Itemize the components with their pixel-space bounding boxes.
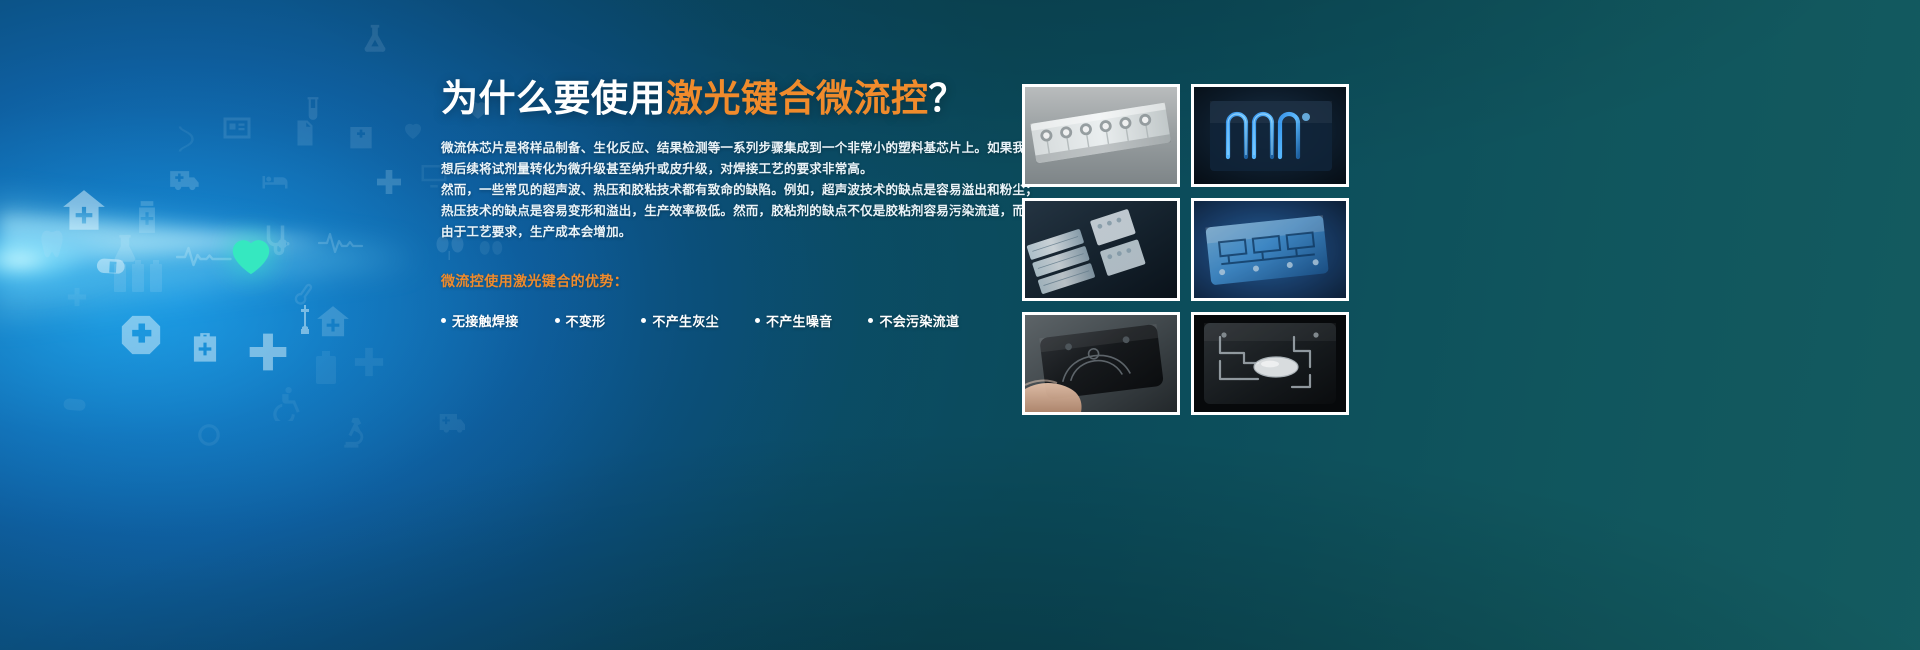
advantages-list: 无接触焊接 不变形 不产生灰尘 不产生噪音 不会污染流道 xyxy=(441,311,1001,330)
gallery-image-4[interactable] xyxy=(1191,198,1349,301)
bullet-dot-icon xyxy=(441,318,446,323)
test-tube-icon xyxy=(300,88,326,128)
list-item-label: 不会污染流道 xyxy=(879,311,959,330)
dna-icon xyxy=(170,120,200,158)
headline-accent: 激光键合微流控 xyxy=(666,78,929,119)
bullet-dot-icon xyxy=(641,318,646,323)
id-card-icon xyxy=(215,110,259,146)
hospital-building-icon xyxy=(345,115,377,155)
list-item: 不产生噪音 xyxy=(755,311,833,330)
bullet-dot-icon xyxy=(868,318,873,323)
paragraph-line: 热压技术的缺点是容易变形和溢出，生产效率极低。然而，胶粘剂的缺点不仅是胶粘剂容易… xyxy=(441,201,1001,222)
paragraph-line: 然而，一些常见的超声波、热压和胶粘技术都有致命的缺陷。例如，超声波技术的缺点是容… xyxy=(441,180,1001,201)
bullet-dot-icon xyxy=(555,318,560,323)
product-photo-gallery xyxy=(1022,84,1349,415)
gallery-image-1[interactable] xyxy=(1022,84,1180,187)
list-item: 无接触焊接 xyxy=(441,311,519,330)
text-content-block: 为什么要使用激光键合微流控？ 微流体芯片是将样品制备、生化反应、结果检测等一系列… xyxy=(441,78,1001,330)
flask-icon xyxy=(358,18,392,60)
hospital-bed-icon xyxy=(255,166,295,196)
list-item: 不产生灰尘 xyxy=(641,311,719,330)
battery-icon xyxy=(313,350,339,386)
light-beam-core xyxy=(0,170,260,350)
page-title: 为什么要使用激光键合微流控？ xyxy=(441,78,1001,121)
pill-faint-icon xyxy=(62,392,92,422)
capsule-faint-icon xyxy=(196,422,222,448)
gallery-image-6[interactable] xyxy=(1191,312,1349,415)
headline-question-mark: ？ xyxy=(929,78,967,119)
list-item: 不变形 xyxy=(555,311,606,330)
gallery-image-5[interactable] xyxy=(1022,312,1180,415)
description-paragraphs: 微流体芯片是将样品制备、生化反应、结果检测等一系列步骤集成到一个非常小的塑料基芯… xyxy=(441,138,1001,243)
medical-van-icon xyxy=(432,406,474,438)
headline-prefix: 为什么要使用 xyxy=(441,78,666,119)
bullet-dot-icon xyxy=(755,318,760,323)
plus-cross-icon xyxy=(373,166,405,198)
paragraph-line: 由于工艺要求，生产成本会增加。 xyxy=(441,222,1001,243)
document-icon xyxy=(290,113,320,153)
list-item-label: 无接触焊接 xyxy=(452,311,519,330)
ecg-faint-icon xyxy=(398,118,428,142)
banner-root: 为什么要使用激光键合微流控？ 微流体芯片是将样品制备、生化反应、结果检测等一系列… xyxy=(0,0,1920,650)
paragraph-line: 想后续将试剂量转化为微升级甚至纳升或皮升级，对焊接工艺的要求非常高。 xyxy=(441,159,1001,180)
list-item-label: 不产生灰尘 xyxy=(652,311,719,330)
list-item-label: 不产生噪音 xyxy=(766,311,833,330)
plus-cross-faint-icon xyxy=(352,345,386,379)
microscope-icon xyxy=(340,415,374,449)
wheelchair-icon xyxy=(268,383,306,421)
gallery-image-2[interactable] xyxy=(1191,84,1349,187)
advantages-title: 微流控使用激光键合的优势： xyxy=(441,271,1001,291)
list-item: 不会污染流道 xyxy=(868,311,959,330)
paragraph-line: 微流体芯片是将样品制备、生化反应、结果检测等一系列步骤集成到一个非常小的塑料基芯… xyxy=(441,138,1001,159)
gallery-image-3[interactable] xyxy=(1022,198,1180,301)
list-item-label: 不变形 xyxy=(566,311,606,330)
